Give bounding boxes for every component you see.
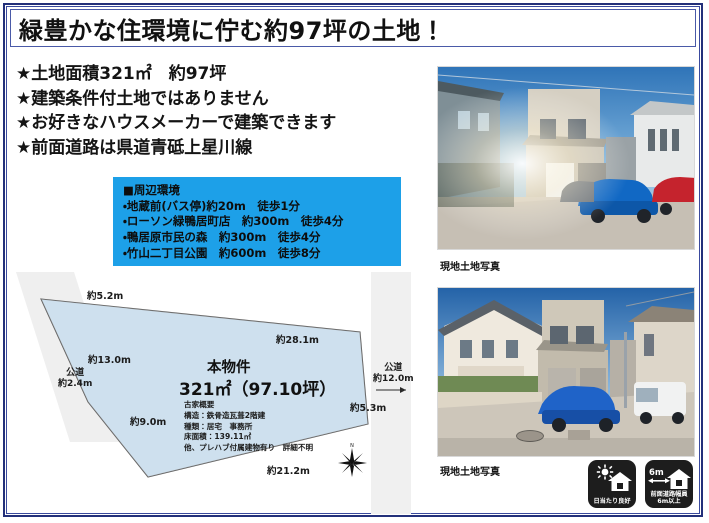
photo-caption-2: 現地土地写真 — [440, 463, 500, 478]
photo-1-art — [438, 67, 694, 249]
left-road-width: 約2.4m — [58, 379, 92, 389]
photo-caption-1: 現地土地写真 — [440, 258, 500, 273]
highlight-item: ★土地面積321㎡ 約97坪 — [16, 62, 436, 87]
dim-top-right: 約28.1m — [276, 332, 319, 346]
photo-2-art — [438, 288, 694, 456]
badge-road-width-label: 前面道路幅員 6m以上 — [650, 491, 687, 505]
surroundings-item: ・地蔵前(バス停)約20m 徒歩1分 — [123, 199, 401, 215]
lot-area: 321㎡（97.10坪） — [179, 375, 336, 400]
right-road-label: 公道 約12.0m — [373, 363, 414, 386]
compass-rose-icon: N — [335, 440, 369, 478]
surroundings-item: ・鴨居原市民の森 約300m 徒歩4分 — [123, 230, 401, 246]
compass-north-label: N — [350, 443, 354, 449]
right-road-band — [371, 272, 411, 514]
building-spec-line: 構造：鉄骨造瓦葺2階建 — [184, 411, 313, 422]
surroundings-item: ・ローソン緑鴨居町店 約300m 徒歩4分 — [123, 214, 401, 230]
dim-lower-left: 約9.0m — [130, 414, 166, 428]
left-road-name: 公道 — [66, 368, 84, 378]
badge-sunlight-label: 日当たり良好 — [593, 498, 630, 505]
badge-road-width-line2: 6m以上 — [657, 498, 680, 505]
dim-top-left: 約5.2m — [87, 288, 123, 302]
right-road-name: 公道 — [384, 363, 402, 373]
surroundings-heading: ■周辺環境 — [123, 183, 401, 199]
dim-left-mid: 約13.0m — [88, 352, 131, 366]
building-spec-line: 床面積：139.11㎡ — [184, 432, 313, 443]
highlight-item: ★前面道路は県道青砥上星川線 — [16, 136, 436, 161]
property-photo-2 — [437, 287, 695, 457]
flyer-page: 緑豊かな住環境に佇む約97坪の土地！ ★土地面積321㎡ 約97坪 ★建築条件付… — [0, 0, 709, 523]
building-spec: 古家概要 構造：鉄骨造瓦葺2階建 種類：居宅 事務所 床面積：139.11㎡ 他… — [184, 400, 313, 454]
highlights-list: ★土地面積321㎡ 約97坪 ★建築条件付土地ではありません ★お好きなハウスメ… — [16, 62, 436, 161]
title-banner: 緑豊かな住環境に佇む約97坪の土地！ — [10, 9, 696, 47]
highlight-item: ★建築条件付土地ではありません — [16, 87, 436, 112]
sun-house-icon — [588, 464, 636, 492]
page-title: 緑豊かな住環境に佇む約97坪の土地！ — [11, 11, 445, 46]
left-road-label: 公道 約2.4m — [58, 368, 92, 391]
dim-right-short: 約5.3m — [350, 400, 386, 414]
lot-title: 本物件 — [207, 356, 251, 377]
right-road-width: 約12.0m — [373, 374, 414, 384]
surroundings-box: ■周辺環境 ・地蔵前(バス停)約20m 徒歩1分 ・ローソン緑鴨居町店 約300… — [113, 177, 401, 266]
badge-road-width: 6m 前面道路幅員 6m以上 — [645, 460, 693, 508]
highlight-item: ★お好きなハウスメーカーで建築できます — [16, 111, 436, 136]
property-photo-1 — [437, 66, 695, 250]
building-spec-line: 他、プレハブ付属建物有り 詳細不明 — [184, 443, 313, 454]
dim-bottom: 約21.2m — [267, 463, 310, 477]
road-width-house-icon: 6m — [645, 464, 693, 492]
building-spec-line: 古家概要 — [184, 400, 313, 411]
surroundings-item: ・竹山二丁目公園 約600m 徒歩8分 — [123, 246, 401, 262]
badge-sunlight: 日当たり良好 — [588, 460, 636, 508]
badge-road-width-value: 6m — [649, 468, 664, 478]
building-spec-line: 種類：居宅 事務所 — [184, 422, 313, 433]
